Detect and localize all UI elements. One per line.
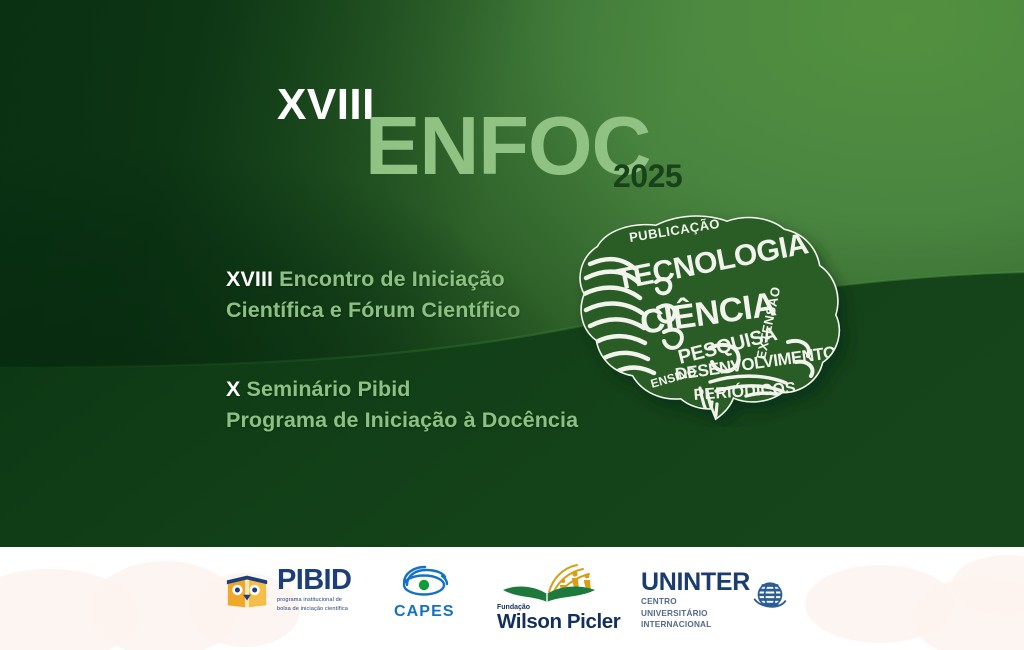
uninter-wordmark: UNINTER [641,570,750,595]
wilson-picler-book-icon [497,562,609,604]
wilson-picler-wordmark: Wilson Picler [497,612,620,633]
capes-eye-icon [395,565,453,601]
logo-uninter[interactable]: UNINTER CENTRO UNIVERSITÁRIO INTERNACION… [641,570,787,630]
pibid-owl-book-icon [224,567,270,613]
uninter-subtitle-line3: INTERNACIONAL [641,620,750,630]
uninter-subtitle-line2: UNIVERSITÁRIO [641,609,750,619]
pibid-subtitle-line1: programa institucional de [277,597,351,604]
uninter-text-block: UNINTER CENTRO UNIVERSITÁRIO INTERNACION… [641,570,750,630]
pibid-text-block: PIBID programa institucional de bolsa de… [277,566,351,613]
event-poster: XVIII ENFOC 2025 XVIII Encontro de Inici… [0,0,1024,650]
capes-wordmark: CAPES [394,604,455,620]
uninter-subtitle-line1: CENTRO [641,597,750,607]
logo-capes[interactable]: CAPES [394,565,455,620]
pibid-wordmark: PIBID [277,566,351,595]
sponsor-logo-row: PIBID programa institucional de bolsa de… [0,0,1024,650]
logo-pibid[interactable]: PIBID programa institucional de bolsa de… [224,566,351,613]
pibid-subtitle-line2: bolsa de iniciação científica [277,606,351,613]
logo-wilson-picler[interactable]: Fundação Wilson Picler [497,562,620,633]
uninter-globe-icon [753,579,787,613]
